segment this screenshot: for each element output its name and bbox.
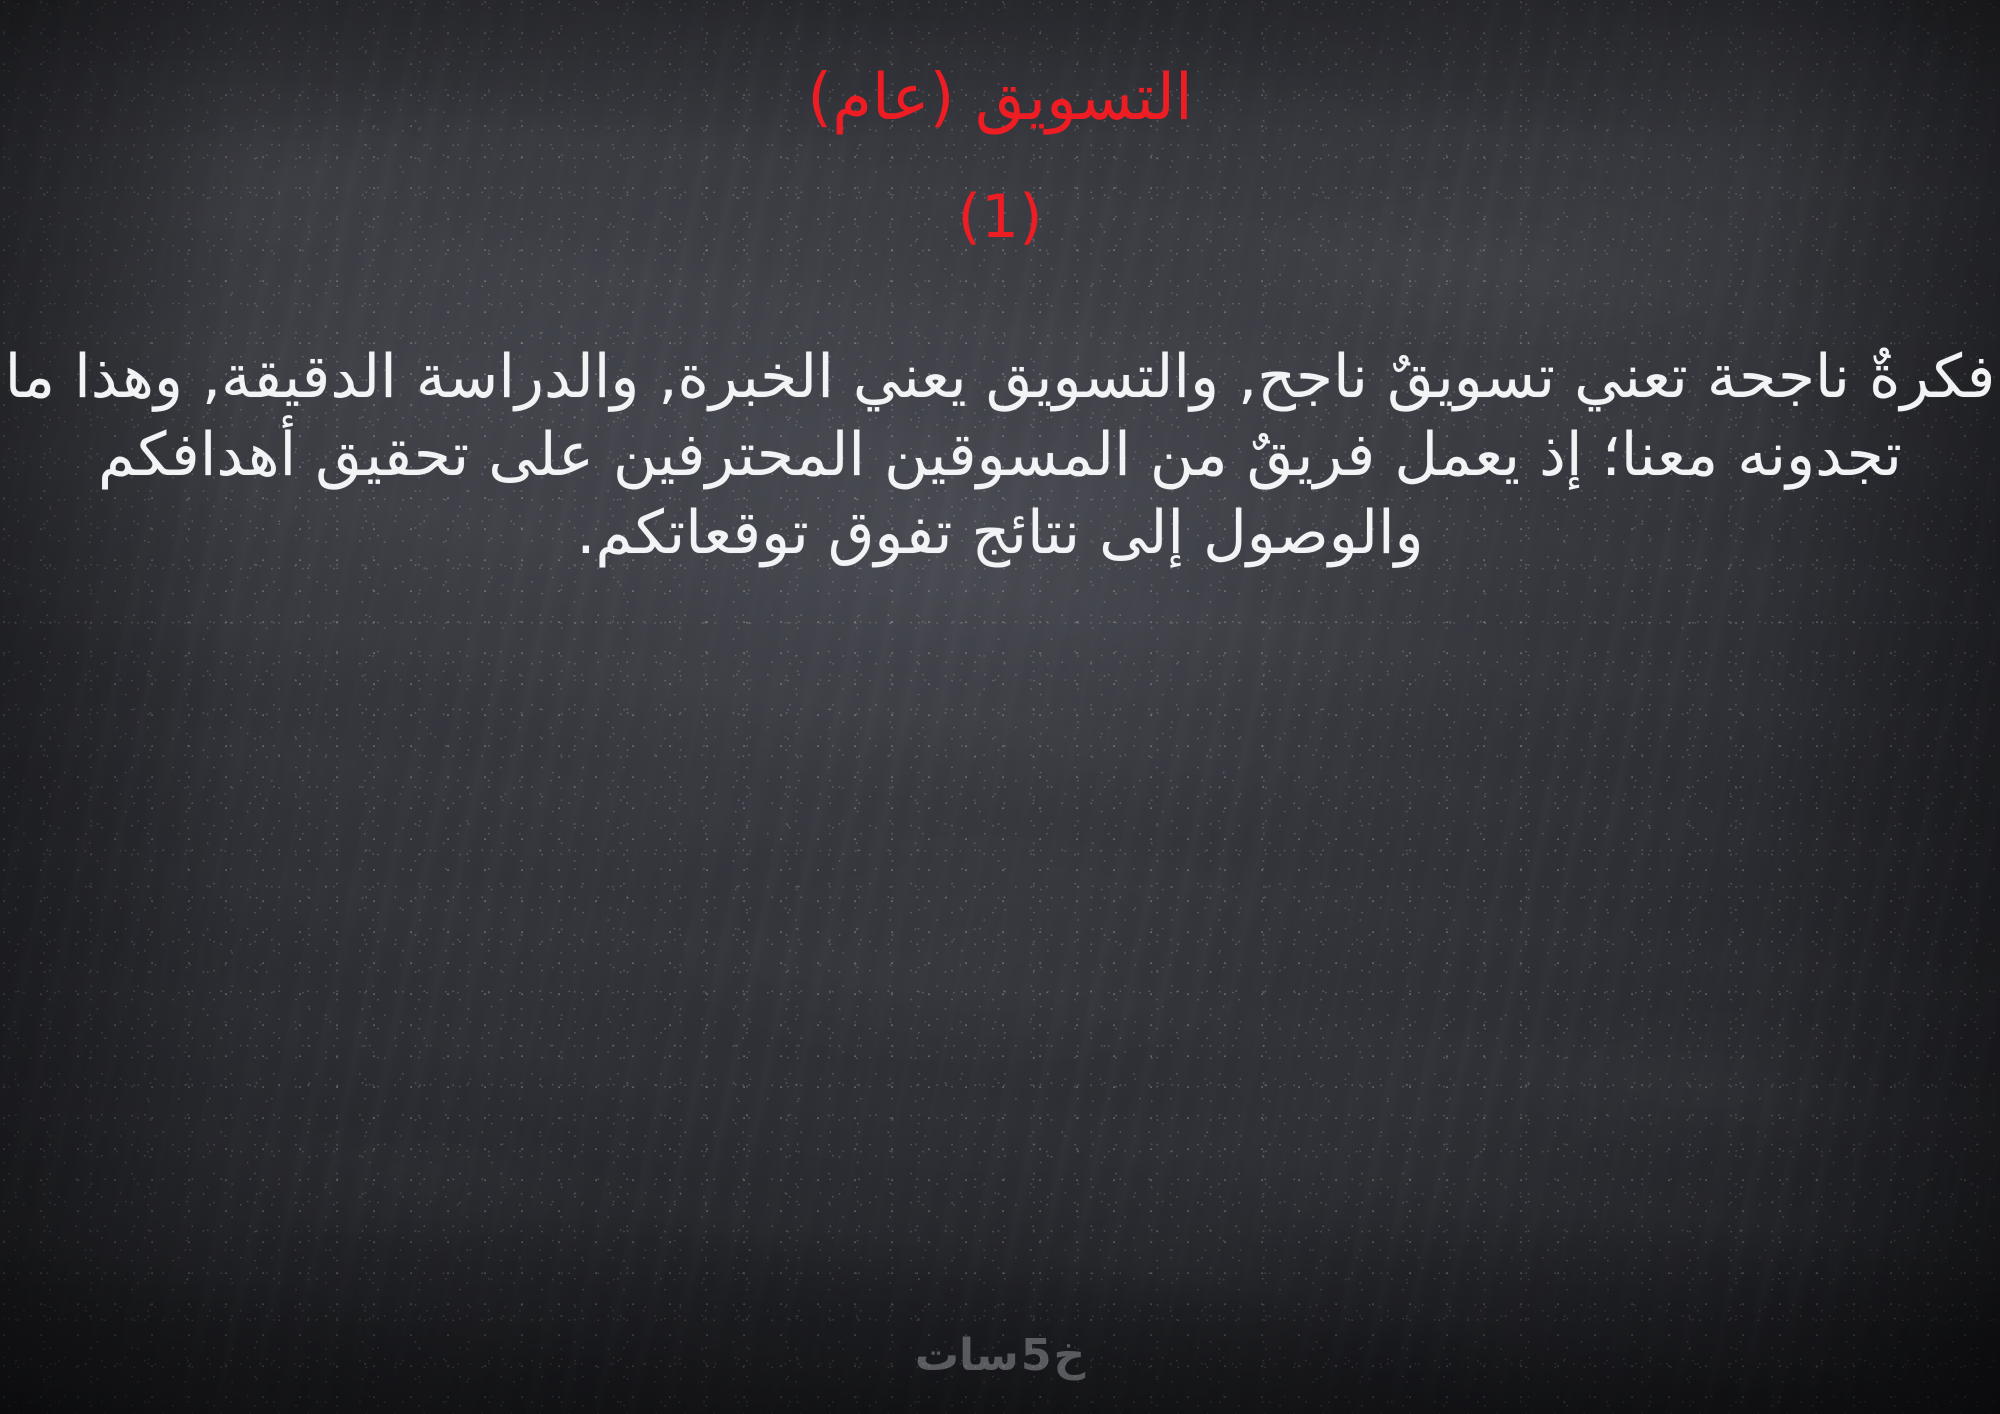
watermark-digit-five: 5 — [1019, 1334, 1054, 1378]
khamsat-watermark: خ 5 سات — [915, 1334, 1085, 1378]
chalkboard-slide: التسويق (عام) (1) فكرةٌ ناجحة تعني تسويق… — [0, 0, 2000, 1414]
slide-title: التسويق (عام) — [0, 62, 2000, 136]
slide-content: التسويق (عام) (1) فكرةٌ ناجحة تعني تسويق… — [0, 0, 2000, 1414]
body-paragraph: فكرةٌ ناجحة تعني تسويقٌ ناجح, والتسويق ي… — [0, 338, 2000, 572]
body-block: فكرةٌ ناجحة تعني تسويقٌ ناجح, والتسويق ي… — [0, 338, 2000, 572]
watermark-text-right: خ — [1053, 1334, 1085, 1378]
watermark-text-left: سات — [915, 1334, 1019, 1378]
title-block: التسويق (عام) (1) — [0, 62, 2000, 250]
slide-number: (1) — [0, 184, 2000, 250]
